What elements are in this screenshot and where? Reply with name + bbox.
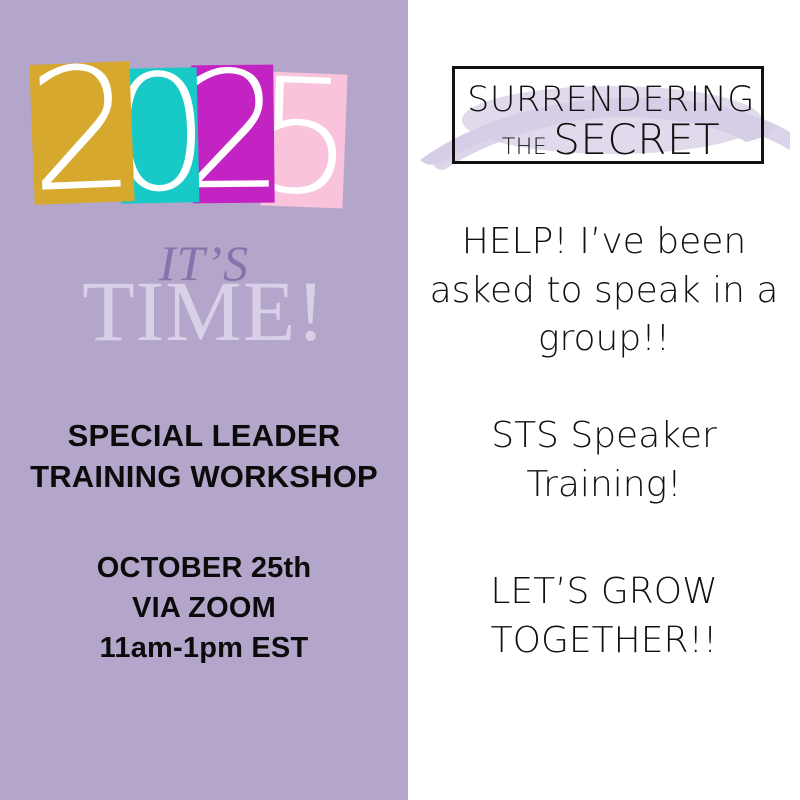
promo-poster: 2 0 2 5 IT’S TIME! SPECIAL LEADER TRAINI… [0,0,800,800]
workshop-title: SPECIAL LEADER TRAINING WORKSHOP [0,415,408,497]
logo-line-the-secret: THESECRET [455,119,767,161]
logo-word-surrendering: SURRENDERING [455,83,767,118]
workshop-title-line-1: SPECIAL LEADER [0,415,408,456]
workshop-title-line-2: TRAINING WORKSHOP [0,456,408,497]
message-block-training: STS Speaker Training! [416,412,792,509]
message-training-line-2: Training! [416,461,792,510]
logo-border-box: SURRENDERING THESECRET [452,66,764,164]
headline-its-time: IT’S TIME! [0,238,408,351]
message-training-line-1: STS Speaker [416,412,792,461]
message-block-grow: LET’S GROW TOGETHER!! [416,568,792,665]
message-help-line-3: group!! [416,315,792,364]
event-platform: VIA ZOOM [0,588,408,628]
message-help-line-1: HELP! I’ve been [416,218,792,267]
event-date: OCTOBER 25th [0,548,408,588]
event-details: OCTOBER 25th VIA ZOOM 11am-1pm EST [0,548,408,668]
right-panel: SURRENDERING THESECRET HELP! I’ve been a… [408,0,800,800]
logo-word-the: THE [502,135,547,160]
year-2025-graphic: 2 0 2 5 [0,55,408,220]
message-block-help: HELP! I’ve been asked to speak in a grou… [416,218,792,364]
message-help-line-2: asked to speak in a [416,267,792,316]
year-digit-1: 2 [25,44,138,216]
message-grow-line-1: LET’S GROW [416,568,792,617]
logo-word-secret: SECRET [553,115,720,164]
brand-logo: SURRENDERING THESECRET [430,58,782,178]
headline-time: TIME! [0,272,408,351]
event-time: 11am-1pm EST [0,628,408,668]
year-tile-gold: 2 [29,61,134,205]
left-panel: 2 0 2 5 IT’S TIME! SPECIAL LEADER TRAINI… [0,0,408,800]
message-grow-line-2: TOGETHER!! [416,617,792,666]
